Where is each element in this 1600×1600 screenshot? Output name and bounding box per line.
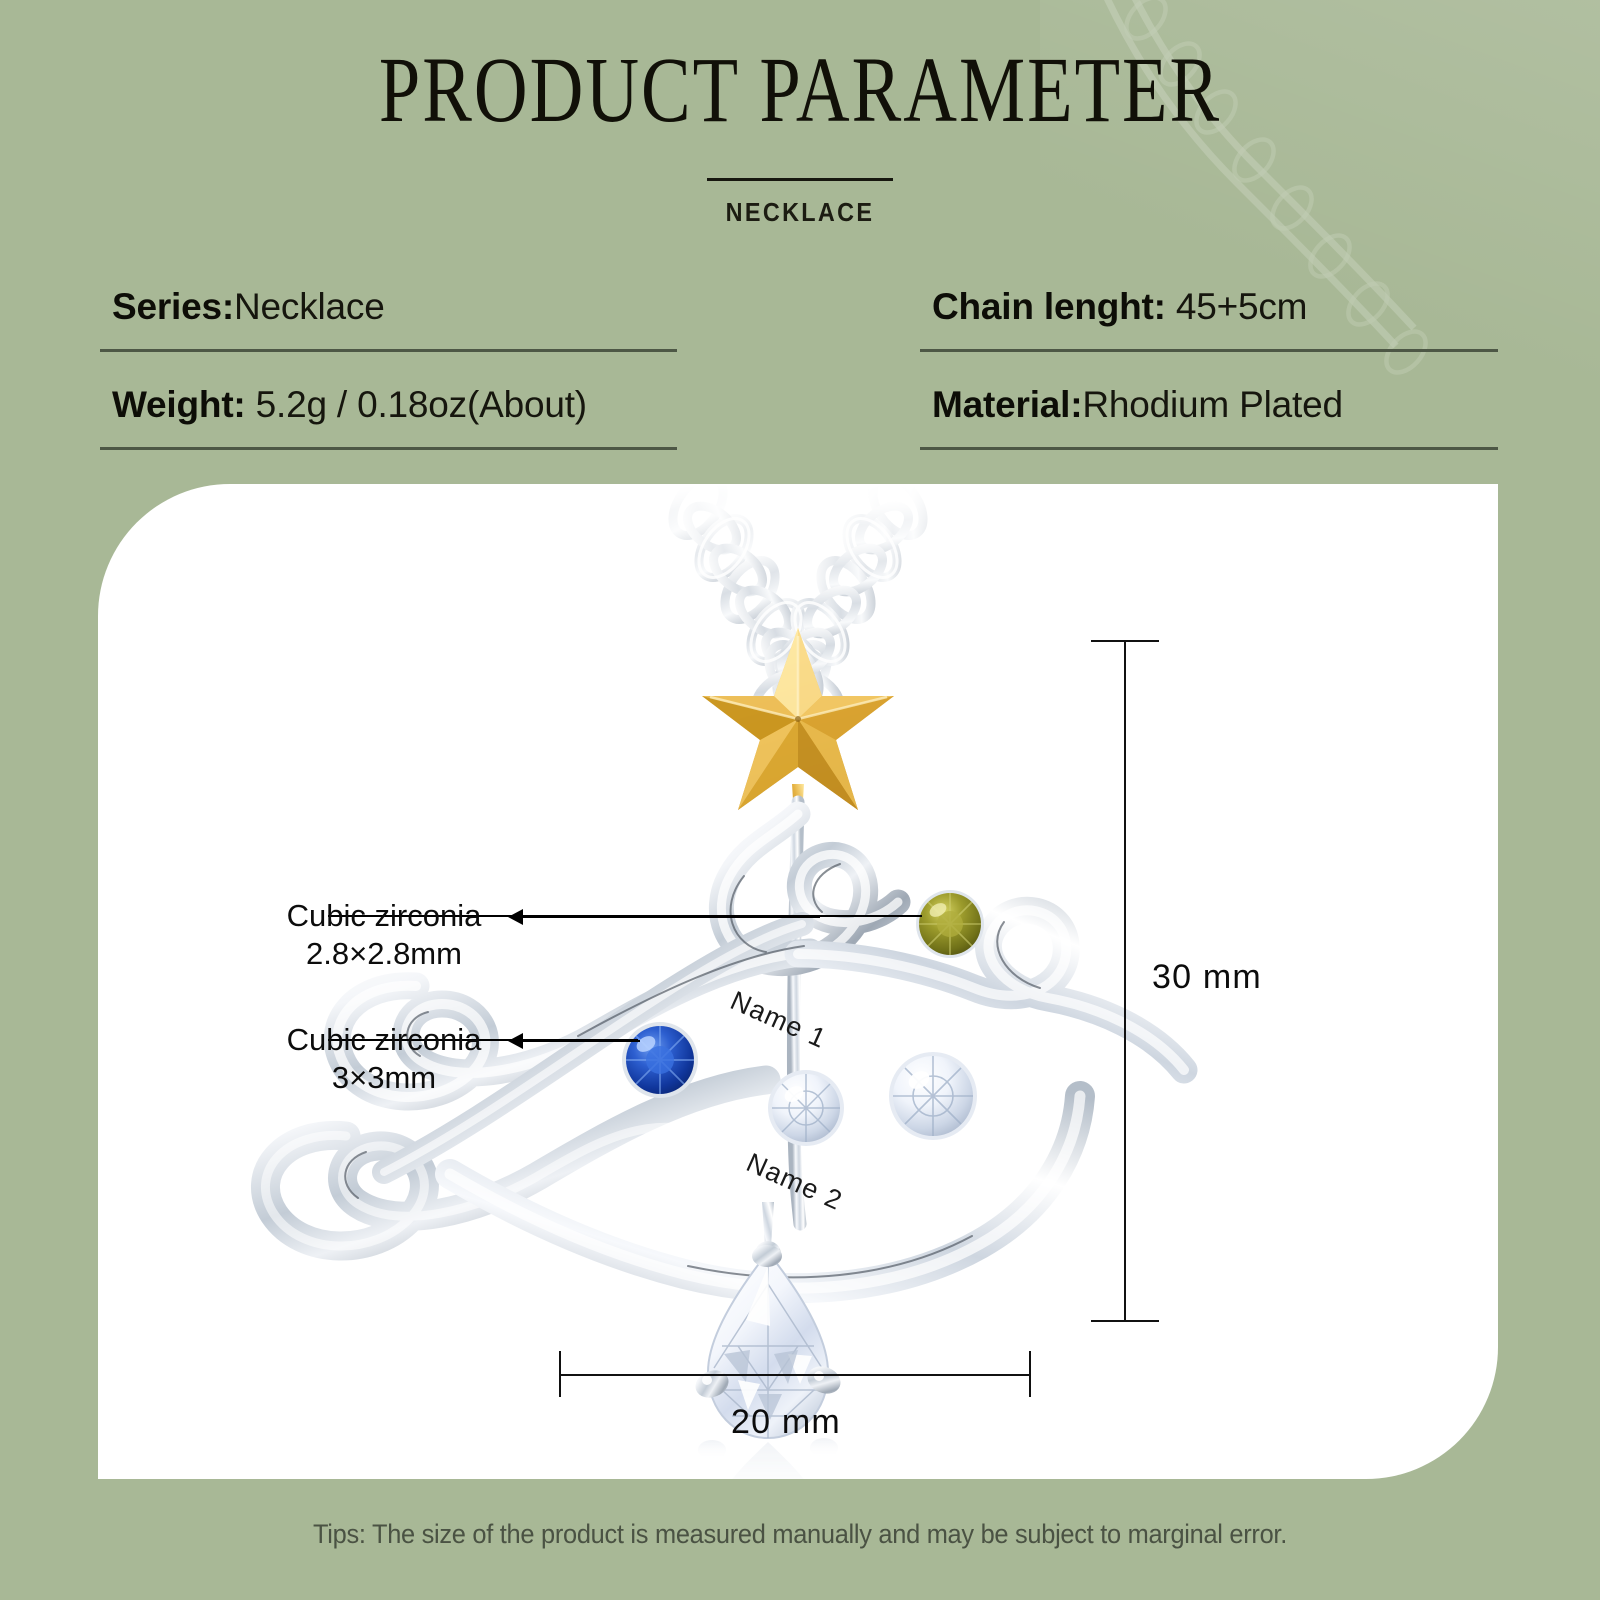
annotation-cubic-zirconia-1: Cubic zirconia 2.8×2.8mm bbox=[278, 897, 490, 974]
width-dimension-tick-left bbox=[559, 1351, 561, 1397]
spec-series: Series:Necklace bbox=[112, 286, 385, 328]
spec-weight: Weight: 5.2g / 0.18oz(About) bbox=[112, 384, 587, 426]
height-dimension-tick-bottom bbox=[1091, 1320, 1159, 1322]
annotation-1-line-1: Cubic zirconia bbox=[278, 897, 490, 935]
spec-chain-length-value: 45+5cm bbox=[1166, 286, 1308, 327]
spec-chain-length: Chain lenght: 45+5cm bbox=[932, 286, 1307, 328]
arrow-head-2 bbox=[508, 1033, 523, 1049]
clear-cz-stone-1 bbox=[768, 1070, 844, 1146]
annotation-cubic-zirconia-2: Cubic zirconia 3×3mm bbox=[278, 1021, 490, 1098]
spec-weight-value: 5.2g / 0.18oz(About) bbox=[246, 384, 587, 425]
necklace-illustration bbox=[98, 484, 1498, 1479]
width-dimension-tick-right bbox=[1029, 1351, 1031, 1397]
height-dimension-line bbox=[1124, 641, 1126, 1321]
spec-material: Material:Rhodium Plated bbox=[932, 384, 1343, 426]
spec-weight-divider bbox=[100, 447, 677, 450]
spec-series-divider bbox=[100, 349, 677, 352]
footer-tips: Tips: The size of the product is measure… bbox=[48, 1519, 1552, 1550]
blue-cz-stone bbox=[622, 1022, 698, 1098]
width-dimension-label: 20 mm bbox=[731, 1403, 841, 1442]
height-dimension-tick-top bbox=[1091, 640, 1159, 642]
spec-material-label: Material: bbox=[932, 384, 1082, 425]
page-title: PRODUCT PARAMETER bbox=[160, 44, 1440, 137]
arrow-head-1 bbox=[508, 909, 523, 925]
spec-chain-length-label: Chain lenght: bbox=[932, 286, 1166, 327]
spec-chain-length-divider bbox=[920, 349, 1498, 352]
spec-series-label: Series: bbox=[112, 286, 234, 327]
leader-line-1 bbox=[520, 916, 820, 918]
spec-series-value: Necklace bbox=[234, 286, 385, 327]
page-subtitle: NECKLACE bbox=[80, 197, 1520, 228]
spec-material-value: Rhodium Plated bbox=[1082, 384, 1342, 425]
clear-cz-stone-2 bbox=[889, 1052, 977, 1140]
height-dimension-label: 30 mm bbox=[1152, 958, 1262, 997]
spec-material-divider bbox=[920, 447, 1498, 450]
spec-weight-label: Weight: bbox=[112, 384, 246, 425]
drop-reflection bbox=[698, 1438, 838, 1479]
annotation-2-line-1: Cubic zirconia bbox=[278, 1021, 490, 1059]
annotation-2-line-2: 3×3mm bbox=[278, 1059, 490, 1097]
product-image-card: Name 1 Name 2 bbox=[98, 484, 1498, 1479]
title-divider bbox=[707, 178, 893, 181]
leader-line-2 bbox=[520, 1040, 640, 1042]
annotation-1-line-2: 2.8×2.8mm bbox=[278, 935, 490, 973]
olive-cz-stone bbox=[916, 890, 984, 958]
width-dimension-line bbox=[560, 1374, 1030, 1376]
